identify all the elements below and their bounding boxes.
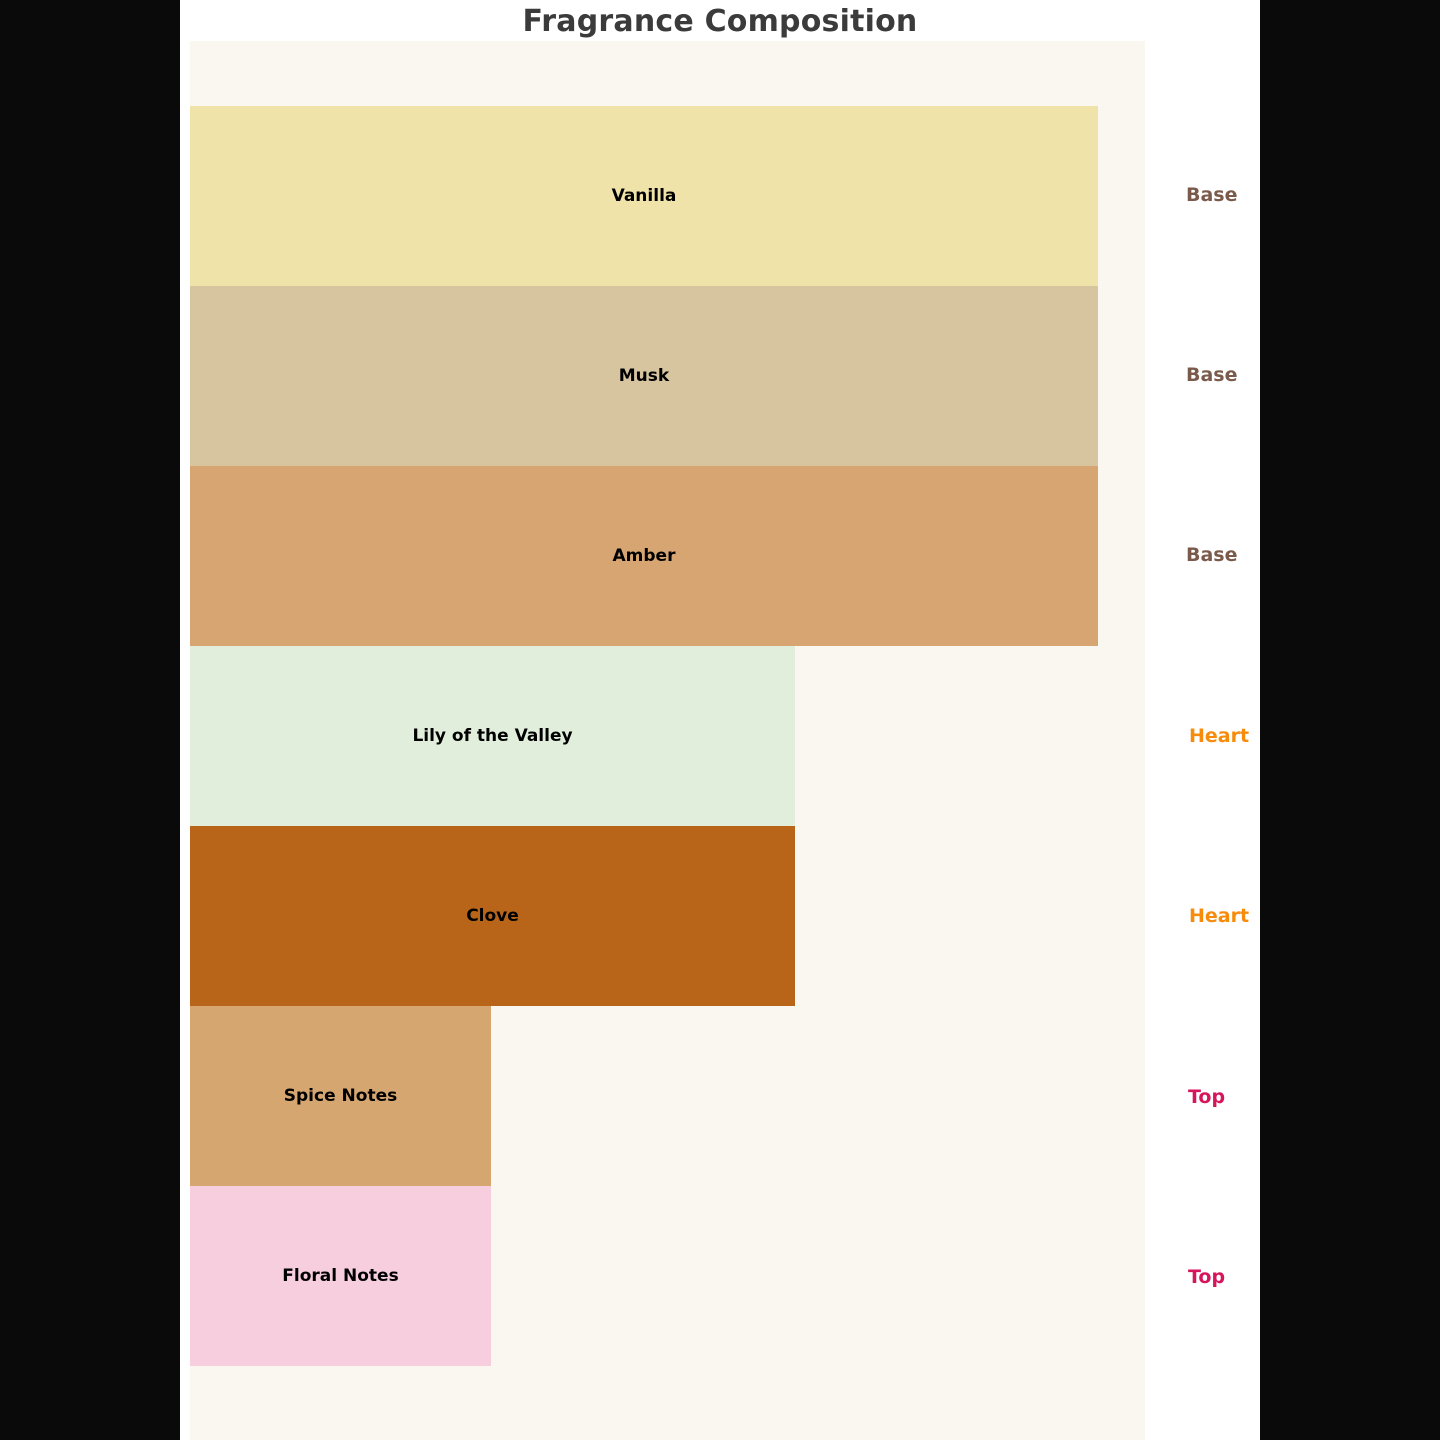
bar-spice-notes[interactable]: Spice Notes	[190, 1006, 491, 1186]
figure-canvas: Fragrance Composition Vanilla Musk Amber…	[180, 0, 1260, 1440]
bars-layer: Vanilla Musk Amber Lily of the Valley Cl…	[180, 0, 1260, 1440]
bar-label: Musk	[190, 366, 1098, 386]
screenshot-root: Fragrance Composition Vanilla Musk Amber…	[0, 0, 1440, 1440]
bar-label: Floral Notes	[190, 1266, 491, 1286]
bar-vanilla[interactable]: Vanilla	[190, 106, 1098, 286]
bar-floral-notes[interactable]: Floral Notes	[190, 1186, 491, 1366]
stage-label-heart-1: Heart	[1189, 725, 1249, 747]
bar-label: Spice Notes	[190, 1086, 491, 1106]
bar-label: Lily of the Valley	[190, 726, 795, 746]
stage-label-base-3: Base	[1186, 544, 1238, 566]
bar-musk[interactable]: Musk	[190, 286, 1098, 466]
stage-label-heart-2: Heart	[1189, 905, 1249, 927]
stage-label-top-1: Top	[1188, 1086, 1225, 1108]
stage-label-base-1: Base	[1186, 184, 1238, 206]
stage-label-base-2: Base	[1186, 364, 1238, 386]
bar-lily-of-the-valley[interactable]: Lily of the Valley	[190, 646, 795, 826]
bar-label: Clove	[190, 906, 795, 926]
bar-clove[interactable]: Clove	[190, 826, 795, 1006]
stage-label-top-2: Top	[1188, 1266, 1225, 1288]
bar-label: Amber	[190, 546, 1098, 566]
bar-label: Vanilla	[190, 186, 1098, 206]
bar-amber[interactable]: Amber	[190, 466, 1098, 646]
